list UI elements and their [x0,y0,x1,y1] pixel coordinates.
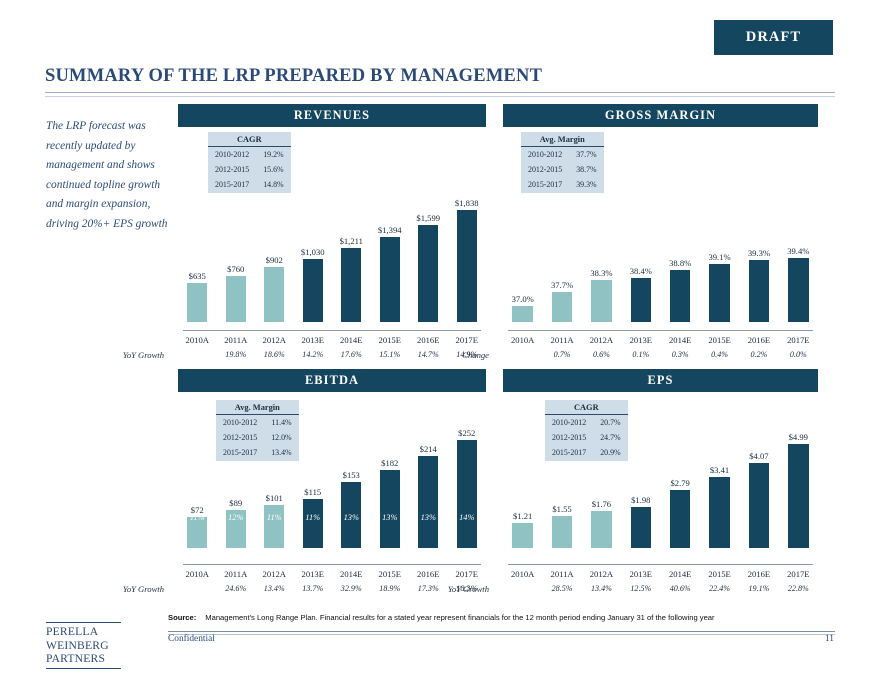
footer-metric-values-revenues: 19.8%18.6%14.2%17.6%15.1%14.7%14.9% [178,350,486,359]
bar-proj[interactable]: 14% [457,440,477,548]
chart-panel-gross-margin: GROSS MARGIN [503,104,818,127]
bar-column[interactable]: 38.4% [631,244,651,322]
footer-metric-value: 12.5% [621,584,660,593]
bar-column[interactable]: $10111% [264,426,284,548]
x-axis-tick: 2010A [503,335,542,345]
bar-value-label: $101 [266,493,283,503]
plot-area-revenues: $635$760$902$1,030$1,211$1,394$1,599$1,8… [178,196,486,322]
footer-metric-value: 17.6% [332,350,371,359]
footer-metric-value [178,584,217,593]
x-axis-tick: 2011A [217,335,256,345]
bar-column[interactable]: $2.79 [670,430,690,548]
bar-proj[interactable] [749,463,769,548]
bar-proj[interactable] [709,477,729,548]
bar-column[interactable]: $21413% [418,426,438,548]
x-axis-tick: 2015E [700,569,739,579]
x-axis-tick: 2012A [255,569,294,579]
bar-proj[interactable] [631,278,651,322]
bar-margin-label: 14% [457,513,477,522]
footer-metric-value: 18.9% [371,584,410,593]
confidential-label: Confidential [168,634,215,644]
bar-hist[interactable]: 12% [226,510,246,548]
bar-value-label: 39.1% [708,252,730,262]
bar-column[interactable]: $1,838 [457,196,477,322]
bar-column[interactable]: $4.07 [749,430,769,548]
x-axis-tick: 2013E [294,569,333,579]
bar-column[interactable]: $1,394 [380,196,400,322]
plot-area-ebitda: $7211%$8912%$10111%$11511%$15313%$18213%… [178,426,486,548]
stat-table-gross-margin: Avg. Margin2010-201237.7%2012-201538.7%2… [521,132,604,193]
plot-area-gross-margin: 37.0%37.7%38.3%38.4%38.8%39.1%39.3%39.4% [503,244,818,322]
footer-metric-value: 14.2% [294,350,333,359]
x-axis-tick: 2017E [448,569,487,579]
bar-proj[interactable]: 11% [303,499,323,548]
bar-value-label: $1,838 [455,198,479,208]
bar-value-label: $1,211 [340,236,363,246]
stat-row-label: 2010-2012 [521,147,569,163]
chart-title-revenues: REVENUES [178,104,486,127]
stat-row-value: 19.2% [256,147,290,163]
bar-value-label: $1.76 [592,499,611,509]
bar-value-label: $3.41 [710,465,729,475]
stat-table-row: 2015-201714.8% [208,177,291,192]
footer-metric-values-ebitda: 24.6%13.4%13.7%32.9%18.9%17.3%18.3% [178,584,486,593]
bar-value-label: 39.4% [787,246,809,256]
x-axis-tick: 2013E [621,335,660,345]
source-divider [168,631,835,635]
draft-badge: DRAFT [714,20,833,55]
footer-metric-value: 14.7% [409,350,448,359]
bar-value-label: $1,599 [416,213,440,223]
bar-column[interactable]: $635 [187,196,207,322]
bar-column[interactable]: $1.21 [512,430,532,548]
chart-panel-ebitda: EBITDA [178,369,486,392]
x-axis-tick: 2010A [178,335,217,345]
bar-column[interactable]: $1.55 [552,430,572,548]
footer-metric-values-gross-margin: 0.7%0.6%0.1%0.3%0.4%0.2%0.0% [503,350,818,359]
axis-baseline-gross-margin [508,330,814,331]
footer-metric-value: 40.6% [661,584,700,593]
bar-hist[interactable]: 11% [264,505,284,548]
footer-metric-value [178,350,217,359]
bar-column[interactable]: $18213% [380,426,400,548]
title-divider [45,92,835,97]
chart-title-ebitda: EBITDA [178,369,486,392]
bar-value-label: $4.99 [789,432,808,442]
footer-metric-label-revenues: YoY Growth [123,350,164,360]
bar-proj[interactable] [457,210,477,322]
bar-value-label: $635 [189,271,206,281]
footer-metric-values-eps: 28.5%13.4%12.5%40.6%22.4%19.1%22.8% [503,584,818,593]
stat-table-header: CAGR [545,400,628,415]
bar-column[interactable]: 37.7% [552,244,572,322]
bar-column[interactable]: 39.4% [788,244,808,322]
stat-row-label: 2012-2015 [521,162,569,177]
bar-value-label: $182 [381,458,398,468]
bar-column[interactable]: $1,030 [303,196,323,322]
footer-metric-value: 0.1% [621,350,660,359]
x-axis-tick: 2011A [542,335,581,345]
footer-metric-value: 18.6% [255,350,294,359]
x-axis-tick: 2010A [503,569,542,579]
bar-column[interactable]: 38.3% [591,244,611,322]
stat-row-value: 39.3% [569,177,603,192]
footer-metric-value [503,350,542,359]
stat-table-row: 2015-201739.3% [521,177,604,192]
x-axis-tick: 2012A [582,335,621,345]
bar-value-label: $1.98 [631,495,650,505]
bar-value-label: 38.4% [630,266,652,276]
footer-metric-value: 22.4% [700,584,739,593]
bar-value-label: $760 [227,264,244,274]
bar-proj[interactable] [341,248,361,322]
bar-column[interactable]: $11511% [303,426,323,548]
bar-hist[interactable] [264,267,284,322]
bar-margin-label: 13% [341,513,361,522]
bar-column[interactable]: $902 [264,196,284,322]
footer-metric-label-ebitda: YoY Growth [123,584,164,594]
bar-proj[interactable] [788,258,808,322]
bar-proj[interactable] [303,259,323,322]
bar-margin-label: 11% [264,513,284,522]
x-axis-tick: 2016E [739,569,778,579]
x-axis-labels-ebitda: 2010A2011A2012A2013E2014E2015E2016E2017E [178,569,486,579]
footer-metric-value: 0.6% [582,350,621,359]
stat-row-value: 14.8% [256,177,290,192]
page-title: SUMMARY OF THE LRP PREPARED BY MANAGEMEN… [45,66,542,87]
footer-metric-value: 19.8% [217,350,256,359]
x-axis-tick: 2014E [332,335,371,345]
bar-proj[interactable]: 13% [380,470,400,548]
footer-metric-value: 0.0% [779,350,818,359]
x-axis-tick: 2013E [294,335,333,345]
logo-line-2: WEINBERG [46,639,121,653]
x-axis-tick: 2017E [779,335,818,345]
bar-column[interactable]: 39.3% [749,244,769,322]
stat-table-row: 2012-201538.7% [521,162,604,177]
stat-row-label: 2010-2012 [545,415,593,431]
x-axis-tick: 2014E [661,335,700,345]
bar-proj[interactable]: 13% [341,482,361,548]
x-axis-tick: 2013E [621,569,660,579]
axis-baseline-revenues [183,330,482,331]
logo-line-1: PERELLA [46,625,121,639]
bar-hist[interactable] [591,280,611,322]
x-axis-labels-eps: 2010A2011A2012A2013E2014E2015E2016E2017E [503,569,818,579]
stat-row-value: 15.6% [256,162,290,177]
x-axis-tick: 2012A [582,569,621,579]
bar-margin-label: 11% [187,513,207,522]
x-axis-tick: 2011A [542,569,581,579]
bar-margin-label: 13% [380,513,400,522]
company-logo: PERELLA WEINBERG PARTNERS [46,622,121,669]
stat-table-row: 2010-201237.7% [521,147,604,163]
x-axis-tick: 2015E [371,569,410,579]
x-axis-labels-revenues: 2010A2011A2012A2013E2014E2015E2016E2017E [178,335,486,345]
stat-table-revenues: CAGR2010-201219.2%2012-201515.6%2015-201… [208,132,291,193]
footer-metric-value: 0.4% [700,350,739,359]
bar-hist[interactable]: 11% [187,517,207,548]
bar-value-label: 37.0% [512,294,534,304]
logo-line-3: PARTNERS [46,652,121,666]
stat-row-value: 38.7% [569,162,603,177]
stat-row-label: 2010-2012 [208,147,256,163]
stat-row-label: 2015-2017 [521,177,569,192]
bar-column[interactable]: 39.1% [709,244,729,322]
footer-metric-value: 15.1% [371,350,410,359]
slide-canvas: DRAFT SUMMARY OF THE LRP PREPARED BY MAN… [0,0,880,680]
bar-value-label: $115 [304,487,321,497]
bar-proj[interactable]: 13% [418,456,438,548]
footer-metric-value: 0.3% [661,350,700,359]
bar-value-label: $1.55 [552,504,571,514]
bar-value-label: $1.21 [513,511,532,521]
bar-hist[interactable] [591,511,611,548]
footer-metric-value: 32.9% [332,584,371,593]
x-axis-tick: 2015E [700,335,739,345]
footer-metric-value: 22.8% [779,584,818,593]
bar-column[interactable]: $3.41 [709,430,729,548]
bar-value-label: $153 [343,470,360,480]
x-axis-tick: 2011A [217,569,256,579]
bar-proj[interactable] [670,490,690,548]
footer-metric-value: 17.3% [409,584,448,593]
bar-column[interactable]: $1.76 [591,430,611,548]
bar-column[interactable]: 38.8% [670,244,690,322]
bar-value-label: $1,030 [301,247,325,257]
source-text: Management's Long Range Plan. Financial … [205,613,714,622]
stat-row-value: 20.7% [593,415,627,431]
source-label: Source: [168,613,196,622]
bar-proj[interactable] [788,444,808,548]
bar-hist[interactable] [226,276,246,322]
x-axis-tick: 2016E [739,335,778,345]
source-line: Source:Management's Long Range Plan. Fin… [168,613,715,622]
bar-margin-label: 12% [226,513,246,522]
bar-proj[interactable] [670,270,690,322]
bar-value-label: $2.79 [671,478,690,488]
bar-value-label: $4.07 [749,451,768,461]
bar-margin-label: 13% [418,513,438,522]
x-axis-tick: 2014E [661,569,700,579]
bar-proj[interactable] [631,507,651,548]
stat-table-row: 2012-201515.6% [208,162,291,177]
stat-table-row: 2010-201220.7% [545,415,628,431]
x-axis-tick: 2016E [409,569,448,579]
chart-panel-eps: EPS [503,369,818,392]
bar-value-label: $902 [266,255,283,265]
bar-value-label: 39.3% [748,248,770,258]
chart-title-gross-margin: GROSS MARGIN [503,104,818,127]
stat-table-header: CAGR [208,132,291,147]
x-axis-tick: 2010A [178,569,217,579]
bar-value-label: $214 [420,444,437,454]
footer-metric-label-gross-margin: Change [462,350,489,360]
x-axis-tick: 2016E [409,335,448,345]
x-axis-tick: 2017E [448,335,487,345]
footer-metric-value: 13.7% [294,584,333,593]
commentary-text: The LRP forecast was recently updated by… [46,117,174,235]
stat-row-label: 2012-2015 [208,162,256,177]
footer-metric-label-eps: YoY Growth [448,584,489,594]
bar-hist[interactable] [552,516,572,548]
bar-hist[interactable] [552,292,572,322]
bar-hist[interactable] [512,523,532,548]
bar-column[interactable]: $7211% [187,426,207,548]
bar-value-label: 37.7% [551,280,573,290]
bar-proj[interactable] [418,225,438,322]
stat-table-header: Avg. Margin [521,132,604,147]
axis-baseline-eps [508,564,814,565]
bar-column[interactable]: $4.99 [788,430,808,548]
bar-hist[interactable] [187,283,207,322]
bar-column[interactable]: $1,599 [418,196,438,322]
bar-column[interactable]: $8912% [226,426,246,548]
x-axis-tick: 2017E [779,569,818,579]
page-number: 11 [812,634,834,644]
bar-proj[interactable] [709,264,729,322]
bar-column[interactable]: $15313% [341,426,361,548]
footer-metric-value [503,584,542,593]
stat-row-value: 37.7% [569,147,603,163]
stat-table-row: 2010-201219.2% [208,147,291,163]
bar-hist[interactable] [512,306,532,322]
footer-metric-value: 28.5% [542,584,581,593]
chart-panel-revenues: REVENUES [178,104,486,127]
bar-value-label: $89 [229,498,242,508]
stat-row-label: 2015-2017 [208,177,256,192]
footer-metric-value: 13.4% [255,584,294,593]
bar-column[interactable]: $1,211 [341,196,361,322]
bar-value-label: 38.3% [590,268,612,278]
bar-value-label: 38.8% [669,258,691,268]
footer-metric-value: 0.7% [542,350,581,359]
footer-metric-value: 19.1% [739,584,778,593]
bar-proj[interactable] [749,260,769,322]
x-axis-tick: 2014E [332,569,371,579]
footer-metric-value: 24.6% [217,584,256,593]
x-axis-labels-gross-margin: 2010A2011A2012A2013E2014E2015E2016E2017E [503,335,818,345]
bar-value-label: $252 [458,428,475,438]
bar-column[interactable]: $1.98 [631,430,651,548]
stat-table-header: Avg. Margin [216,400,299,415]
bar-column[interactable]: $25214% [457,426,477,548]
x-axis-tick: 2012A [255,335,294,345]
footer-metric-value: 13.4% [582,584,621,593]
bar-proj[interactable] [380,237,400,322]
chart-title-eps: EPS [503,369,818,392]
bar-margin-label: 11% [303,513,323,522]
bar-column[interactable]: 37.0% [512,244,532,322]
plot-area-eps: $1.21$1.55$1.76$1.98$2.79$3.41$4.07$4.99 [503,430,818,548]
footer-metric-value: 0.2% [739,350,778,359]
bar-value-label: $1,394 [378,225,402,235]
bar-column[interactable]: $760 [226,196,246,322]
axis-baseline-ebitda [183,564,482,565]
x-axis-tick: 2015E [371,335,410,345]
